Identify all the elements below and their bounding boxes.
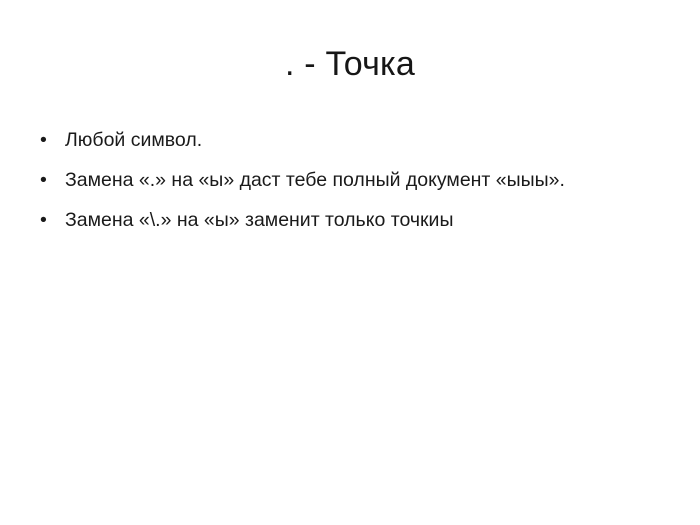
bullet-dot-icon: • — [40, 205, 54, 235]
list-item-text: Любой символ. — [65, 125, 656, 155]
page-title: . - Точка — [0, 44, 700, 84]
list-item-text: Замена «\.» на «ы» заменит только точкиы — [65, 205, 656, 235]
list-item: • Замена «\.» на «ы» заменит только точк… — [36, 205, 656, 235]
list-item: • Любой символ. — [36, 125, 656, 155]
bullet-dot-icon: • — [40, 125, 54, 155]
list-item-text: Замена «.» на «ы» даст тебе полный докум… — [65, 165, 656, 195]
bullet-dot-icon: • — [40, 165, 54, 195]
bullet-list: • Любой символ. • Замена «.» на «ы» даст… — [36, 125, 656, 235]
list-item: • Замена «.» на «ы» даст тебе полный док… — [36, 165, 656, 195]
slide-canvas: . - Точка • Любой символ. • Замена «.» н… — [0, 0, 700, 525]
